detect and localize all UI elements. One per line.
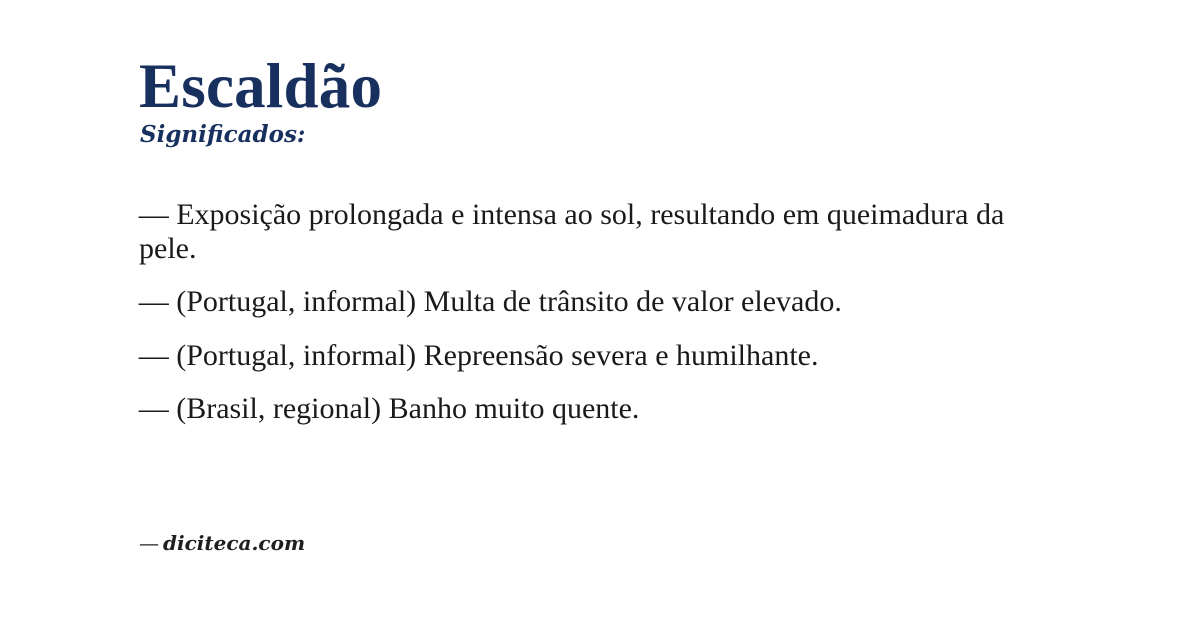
definitions-list: — Exposição prolongada e intensa ao sol,… [139,198,1069,426]
em-dash-marker: — [139,198,169,231]
list-item: — (Portugal, informal) Multa de trânsito… [139,285,1069,319]
list-item: — Exposição prolongada e intensa ao sol,… [139,198,1069,266]
source-name: diciteca.com [163,531,305,555]
page-title: Escaldão [139,54,382,118]
card-header: Escaldão Significados: [139,54,382,148]
em-dash-marker: — [139,285,169,318]
em-dash-marker: — [139,339,169,372]
list-item: — (Brasil, regional) Banho muito quente. [139,392,1069,426]
definition-text: Exposição prolongada e intensa ao sol, r… [139,198,1004,265]
list-item: — (Portugal, informal) Repreensão severa… [139,339,1069,373]
dictionary-card: Escaldão Significados: — Exposição prolo… [0,0,1200,628]
em-dash-marker: — [139,531,159,555]
definition-text: (Portugal, informal) Multa de trânsito d… [176,285,842,318]
meanings-label: Significados: [140,122,382,147]
definition-text: (Portugal, informal) Repreensão severa e… [176,339,818,372]
source-attribution: —diciteca.com [139,531,305,555]
definition-text: (Brasil, regional) Banho muito quente. [176,392,639,425]
em-dash-marker: — [139,392,169,425]
